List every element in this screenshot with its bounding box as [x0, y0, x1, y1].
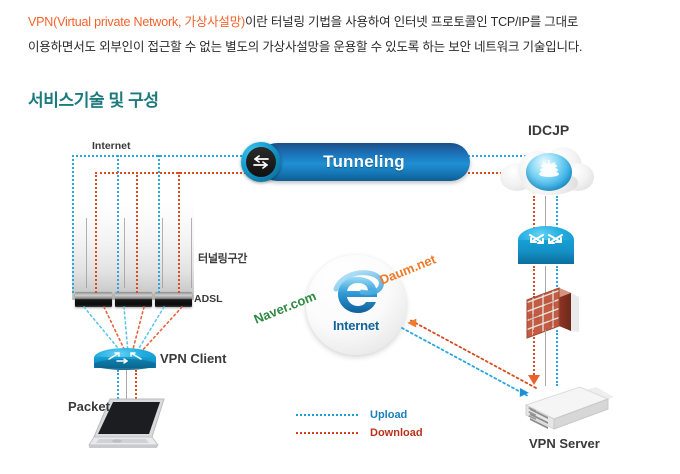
intro-line1-rest: 이란 터널링 기법을 사용하여 인터넷 프로토콜인 TCP/IP를 그대로 [245, 15, 578, 29]
upload-drop [158, 155, 160, 293]
upload-drop [72, 155, 74, 293]
tunneling-label: Tunneling [258, 152, 470, 172]
adsl-label: ADSL [194, 293, 223, 305]
page-title: 서비스기술 및 구성 [28, 86, 159, 111]
download-drop [95, 172, 97, 293]
legend-item-upload: Upload [296, 406, 423, 424]
router-icon [518, 226, 574, 270]
internet-label: Internet [92, 140, 131, 152]
legend-upload-label: Upload [370, 409, 407, 421]
tunnel-cylinder [72, 200, 194, 300]
packet-label: Packet [68, 399, 110, 414]
internet-explorer-icon [328, 269, 384, 319]
legend-upload-line [296, 414, 358, 416]
firewall-server-link [545, 330, 546, 386]
vpn-server-label: VPN Server [529, 436, 600, 451]
firewall-server-upload [556, 330, 558, 386]
upload-drop [117, 155, 119, 293]
idcjp-cloud-icon [500, 145, 596, 201]
legend-item-download: Download [296, 424, 423, 442]
intro-highlight: VPN(Virtual private Network, 가상사설망) [28, 15, 245, 29]
legend-download-line [296, 432, 358, 434]
vpn-client-router-icon [94, 348, 156, 370]
legend-download-label: Download [370, 427, 423, 439]
intro-line2: 이용하면서도 외부인이 접근할 수 없는 별도의 가상사설망을 운용할 수 있도… [28, 40, 582, 54]
download-drop [136, 172, 138, 293]
site-tag-daum: Daum.net [377, 251, 438, 287]
globe-server-links [388, 306, 538, 404]
vpn-client-label: VPN Client [160, 351, 226, 366]
tunnel-zone-label: 터널링구간 [198, 250, 247, 266]
intro-paragraph: VPN(Virtual private Network, 가상사설망)이란 터널… [28, 10, 652, 60]
tunneling-banner: Tunneling [258, 143, 470, 181]
download-drop [178, 172, 180, 293]
legend: Upload Download [296, 406, 423, 442]
bidirectional-arrow-icon [241, 142, 281, 182]
idcjp-label: IDCJP [528, 122, 569, 138]
